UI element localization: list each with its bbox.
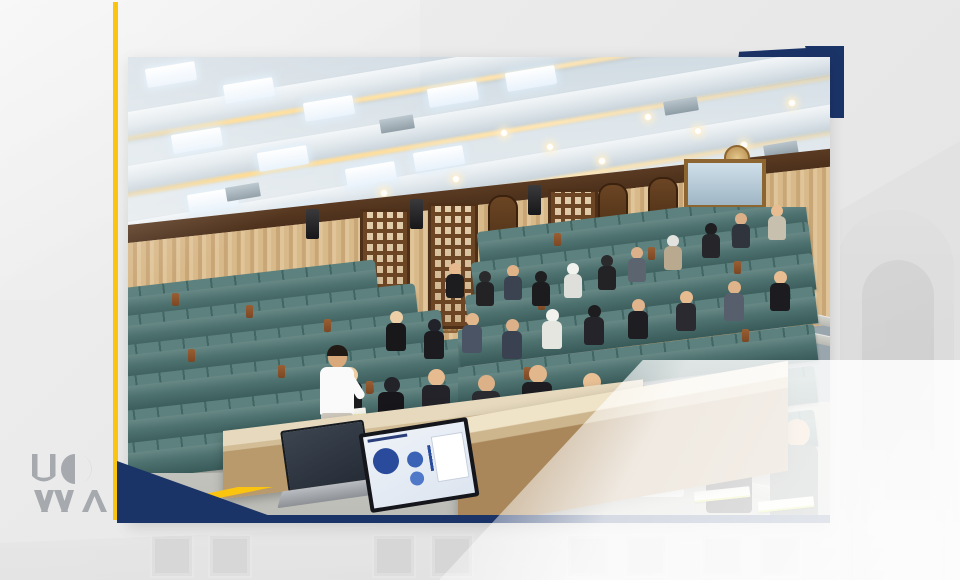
audience-member (628, 299, 648, 339)
audience-member (724, 281, 744, 321)
uowa-logo[interactable] (30, 452, 114, 522)
audience-member (386, 311, 406, 351)
audience-member (676, 291, 696, 331)
audience-member (462, 313, 482, 353)
audience-member (532, 271, 550, 305)
audience-member (446, 263, 464, 297)
presenter-laptop (280, 419, 372, 492)
audience-member (732, 213, 750, 247)
lecture-hall-photo: B C D E F (128, 57, 830, 523)
presentation-monitor (358, 417, 479, 513)
watermark-window (886, 320, 930, 400)
audience-member (502, 319, 522, 359)
banner-stage: B C D E F (0, 0, 960, 580)
audience-member (702, 223, 720, 257)
audience-member (564, 263, 582, 297)
audience-member (542, 309, 562, 349)
audience-member (584, 305, 604, 345)
watermark-window (886, 430, 930, 500)
audience-member (476, 271, 494, 305)
audience-member (664, 235, 682, 269)
audience-member (504, 265, 522, 299)
audience-member (768, 205, 786, 239)
audience-member (424, 319, 444, 359)
audience-member (628, 247, 646, 281)
campus-building-arch-watermark (840, 140, 960, 580)
audience-member (598, 255, 616, 289)
audience-member (770, 271, 790, 311)
